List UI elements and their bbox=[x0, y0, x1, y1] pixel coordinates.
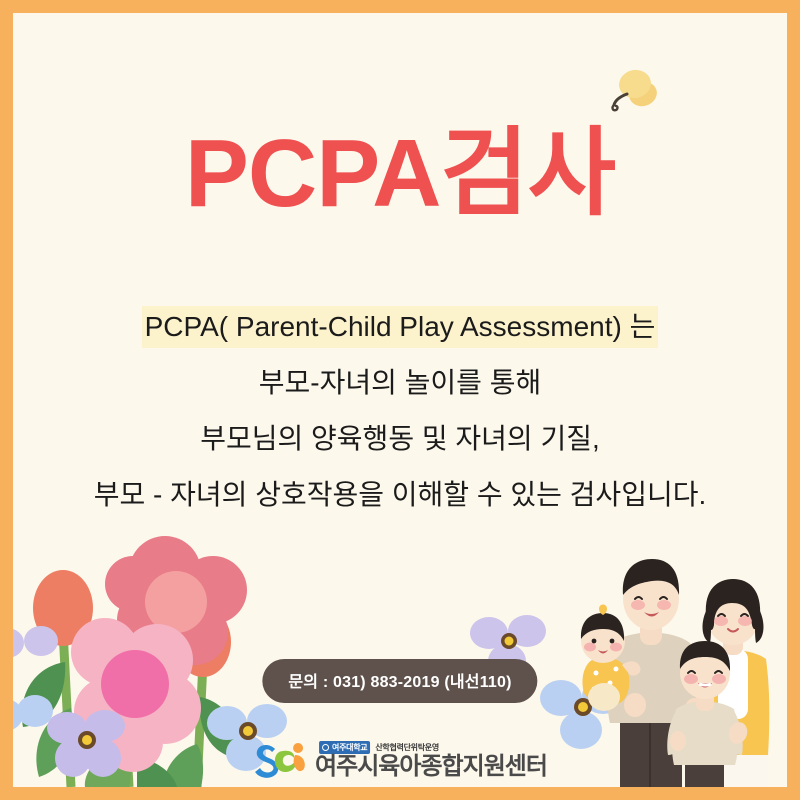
poster-canvas: PCPA검사 PCPA( Parent-Child Play Assessmen… bbox=[13, 13, 787, 787]
university-badge: 여주대학교 bbox=[319, 741, 370, 754]
badge-dot-icon bbox=[322, 744, 329, 751]
body-line-1: PCPA( Parent-Child Play Assessment) 는 bbox=[13, 313, 787, 341]
organization-logo: 여주대학교 산학협력단위탁운영 여주시육아종합지원센터 bbox=[253, 739, 547, 779]
poster-frame: PCPA검사 PCPA( Parent-Child Play Assessmen… bbox=[0, 0, 800, 800]
body-line-4: 부모 - 자녀의 상호작용을 이해할 수 있는 검사입니다. bbox=[13, 481, 787, 509]
logo-text-group: 여주대학교 산학협력단위탁운영 여주시육아종합지원센터 bbox=[315, 740, 547, 779]
sc-logo-icon bbox=[253, 739, 307, 779]
center-name: 여주시육아종합지원센터 bbox=[315, 755, 547, 779]
logo-partner-row: 여주대학교 산학협력단위탁운영 bbox=[319, 740, 547, 754]
body-line-1-text: PCPA( Parent-Child Play Assessment) 는 bbox=[142, 306, 659, 348]
university-name: 여주대학교 bbox=[332, 742, 367, 753]
body-line-2: 부모-자녀의 놀이를 통해 bbox=[13, 369, 787, 397]
university-subtitle: 산학협력단위탁운영 bbox=[375, 742, 439, 753]
contact-badge[interactable]: 문의 : 031) 883-2019 (내선110) bbox=[262, 659, 537, 703]
page-title: PCPA검사 bbox=[13, 121, 787, 227]
butterfly-icon bbox=[605, 61, 667, 123]
body-line-3: 부모님의 양육행동 및 자녀의 기질, bbox=[13, 425, 787, 453]
family-illustration bbox=[572, 537, 787, 787]
body-text-block: PCPA( Parent-Child Play Assessment) 는 부모… bbox=[13, 313, 787, 537]
